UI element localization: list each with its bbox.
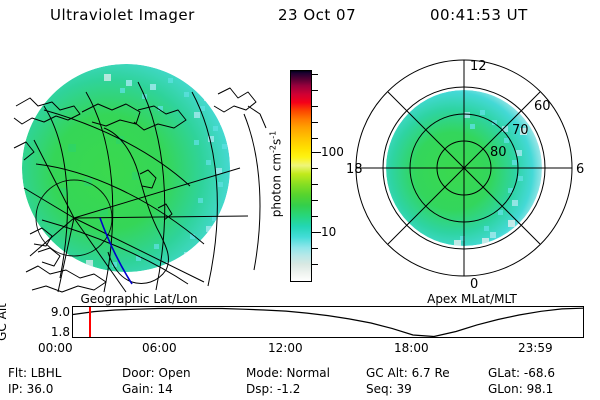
status-ip: IP: 36.0 [8, 382, 53, 396]
strip-xtick-1800: 18:00 [394, 341, 429, 355]
colorbar-minor-tick [312, 122, 318, 123]
page-title: Ultraviolet Imager [50, 6, 195, 24]
colorbar-major-tick-100 [312, 152, 321, 153]
status-gc-alt: GC Alt: 6.7 Re [366, 366, 450, 380]
geographic-image-panel[interactable] [8, 48, 270, 296]
aurora-emission-geographic [22, 64, 230, 272]
colorbar-minor-tick [312, 248, 318, 249]
mlt-label-0: 0 [470, 277, 478, 292]
colorbar-minor-tick [312, 90, 318, 91]
mlat-label-60: 60 [534, 99, 551, 114]
colorbar-axis-label-main: photon cm [270, 153, 284, 217]
status-door: Door: Open [122, 366, 191, 380]
strip-ytick-top: 9.0 [36, 305, 70, 319]
observation-time: 00:41:53 UT [430, 6, 528, 24]
colorbar-major-tick-10 [312, 232, 321, 233]
apex-panel-caption: Apex MLat/MLT [352, 292, 592, 306]
apex-polar-panel[interactable]: 12 6 0 18 60 70 80 [352, 48, 592, 296]
colorbar-minor-tick [312, 200, 318, 201]
colorbar-axis-label-mid: s [270, 139, 284, 145]
status-glat: GLat: -68.6 [488, 366, 555, 380]
colorbar-gradient [290, 70, 312, 282]
colorbar-tick-label-100: 100 [321, 146, 344, 158]
mlat-label-70: 70 [512, 123, 529, 138]
mlt-label-12: 12 [470, 59, 487, 74]
colorbar-axis-label: photon cm-2s-1 [269, 131, 284, 218]
colorbar-minor-tick [312, 138, 318, 139]
status-mode: Mode: Normal [246, 366, 330, 380]
colorbar-minor-tick [312, 74, 318, 75]
altitude-strip-chart[interactable] [72, 306, 584, 338]
mlat-label-80: 80 [490, 145, 507, 160]
gc-altitude-trace [73, 308, 583, 336]
header-bar: Ultraviolet Imager 23 Oct 07 00:41:53 UT [0, 6, 600, 32]
time-cursor[interactable] [89, 307, 91, 337]
strip-ytick-bottom: 1.8 [36, 325, 70, 339]
status-filter: Flt: LBHL [8, 366, 61, 380]
mlt-label-6: 6 [576, 162, 584, 177]
status-dsp: Dsp: -1.2 [246, 382, 300, 396]
status-footer: Flt: LBHL IP: 36.0 Door: Open Gain: 14 M… [0, 366, 600, 400]
colorbar-axis-label-sup2: -1 [269, 131, 278, 139]
colorbar-minor-tick [312, 106, 318, 107]
mlt-spokes [356, 60, 572, 276]
strip-xtick-2359: 23:59 [518, 341, 553, 355]
intensity-colorbar: 100 10 photon cm-2s-1 [288, 70, 350, 288]
observation-date: 23 Oct 07 [278, 6, 356, 24]
strip-xtick-1200: 12:00 [268, 341, 303, 355]
colorbar-minor-tick [312, 216, 318, 217]
colorbar-tick-label-10: 10 [321, 226, 336, 238]
strip-xtick-0000: 00:00 [38, 341, 73, 355]
colorbar-minor-tick [312, 168, 318, 169]
status-seq: Seq: 39 [366, 382, 412, 396]
colorbar-axis-label-sup1: -2 [269, 145, 278, 153]
strip-xtick-0600: 06:00 [142, 341, 177, 355]
status-glon: GLon: 98.1 [488, 382, 553, 396]
colorbar-minor-tick [312, 264, 318, 265]
status-gain: Gain: 14 [122, 382, 173, 396]
geographic-panel-caption: Geographic Lat/Lon [8, 292, 270, 306]
colorbar-minor-tick [312, 184, 318, 185]
mlt-label-18: 18 [346, 162, 363, 177]
